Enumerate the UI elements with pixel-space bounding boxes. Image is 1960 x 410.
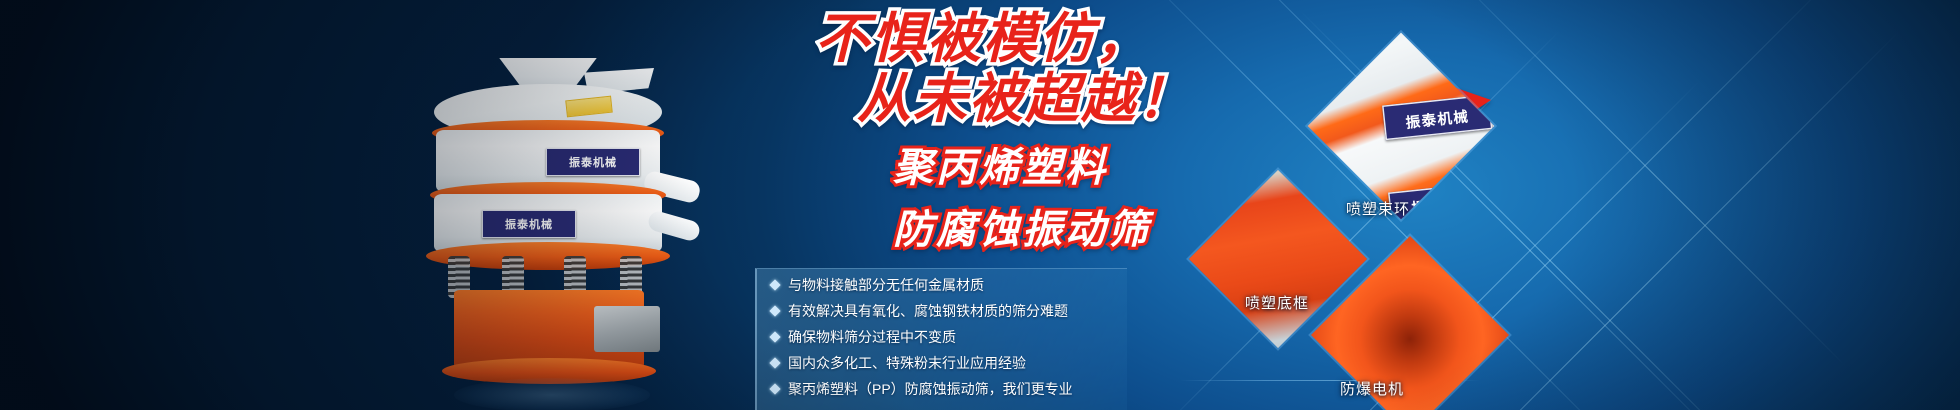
brand-plate-upper: 振泰机械 — [546, 148, 640, 176]
feature-text: 国内众多化工、特殊粉末行业应用经验 — [788, 356, 1026, 370]
list-item: 与物料接触部分无任何金属材质 — [771, 278, 1127, 292]
diamond-bullet-icon — [769, 383, 780, 394]
headline-line-1: 不惧被模仿， — [815, 12, 1435, 66]
thumbnail-caption-ring: 喷塑束环 — [1346, 198, 1410, 219]
list-item: 确保物料筛分过程中不变质 — [771, 330, 1127, 344]
diamond-bullet-icon — [769, 279, 780, 290]
feature-list-panel: 与物料接触部分无任何金属材质 有效解决具有氧化、腐蚀钢铁材质的筛分难题 确保物料… — [755, 268, 1127, 410]
brand-plate-lower: 振泰机械 — [482, 210, 576, 238]
promo-banner: 振泰机械 振泰机械 不惧被模仿， 从未被超越！ 聚丙烯塑料 防腐蚀振动筛 与物料… — [0, 0, 1960, 410]
diamond-bullet-icon — [769, 331, 780, 342]
list-item: 有效解决具有氧化、腐蚀钢铁材质的筛分难题 — [771, 304, 1127, 318]
feature-text: 确保物料筛分过程中不变质 — [788, 330, 956, 344]
thumbnail-caption-base: 喷塑底框 — [1245, 292, 1309, 313]
product-image-main: 振泰机械 振泰机械 — [398, 58, 698, 410]
machine-motor-housing — [594, 306, 660, 352]
feature-text: 与物料接触部分无任何金属材质 — [788, 278, 984, 292]
feature-text: 聚丙烯塑料（PP）防腐蚀振动筛，我们更专业 — [788, 382, 1073, 396]
thumbnail-caption-motor: 防爆电机 — [1340, 378, 1404, 399]
list-item: 聚丙烯塑料（PP）防腐蚀振动筛，我们更专业 — [771, 382, 1127, 396]
diamond-bullet-icon — [769, 305, 780, 316]
list-item: 国内众多化工、特殊粉末行业应用经验 — [771, 356, 1127, 370]
feature-text: 有效解决具有氧化、腐蚀钢铁材质的筛分难题 — [788, 304, 1068, 318]
diamond-bullet-icon — [769, 357, 780, 368]
machine-reflection — [454, 378, 650, 410]
